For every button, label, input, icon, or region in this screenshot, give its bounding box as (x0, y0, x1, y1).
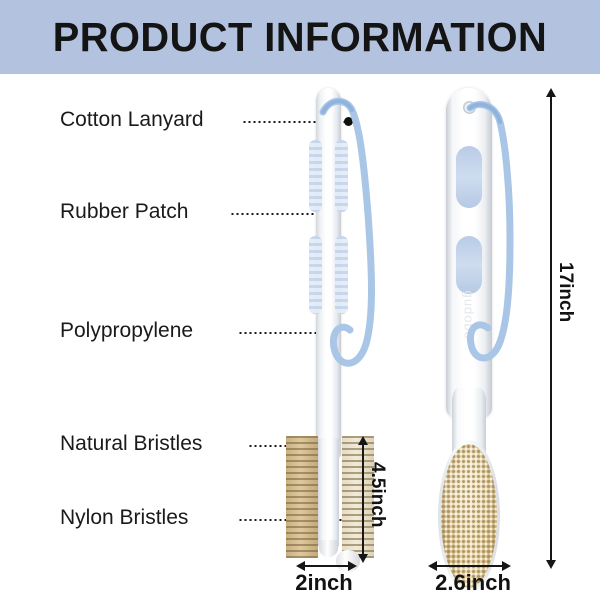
cotton-lanyard-side (320, 94, 392, 394)
dim-line-front-width (436, 565, 504, 567)
page-title: PRODUCT INFORMATION (9, 0, 591, 74)
callout-label-polypropylene: Polypropylene (60, 319, 193, 343)
dim-line-head-height (362, 444, 364, 556)
callout-label-nylon-bristles: Nylon Bristles (60, 506, 188, 530)
product-information-image: PRODUCT INFORMATION Cotton Lanyard Rubbe… (0, 0, 600, 600)
natural-bristle-row (286, 436, 318, 558)
dim-label-front-width: 2.6inch (418, 570, 528, 596)
dim-label-head-width: 2inch (278, 570, 370, 596)
callout-label-cotton-lanyard: Cotton Lanyard (60, 108, 204, 132)
dim-label-head-height: 4.5inch (366, 462, 388, 527)
cotton-lanyard-front (462, 98, 532, 388)
dim-arrow-length-bottom (546, 560, 556, 569)
callout-label-rubber-patch: Rubber Patch (60, 200, 188, 224)
brush-side-view (300, 88, 360, 568)
dim-label-length: 17inch (554, 262, 576, 322)
dim-arrow-head-height-bottom (358, 554, 368, 563)
brush-handle-tip (319, 540, 338, 557)
dim-line-length (550, 96, 552, 562)
brush-front-view: gudobo (432, 88, 524, 558)
callout-label-natural-bristles: Natural Bristles (60, 432, 202, 456)
dim-line-head-width (304, 565, 350, 567)
